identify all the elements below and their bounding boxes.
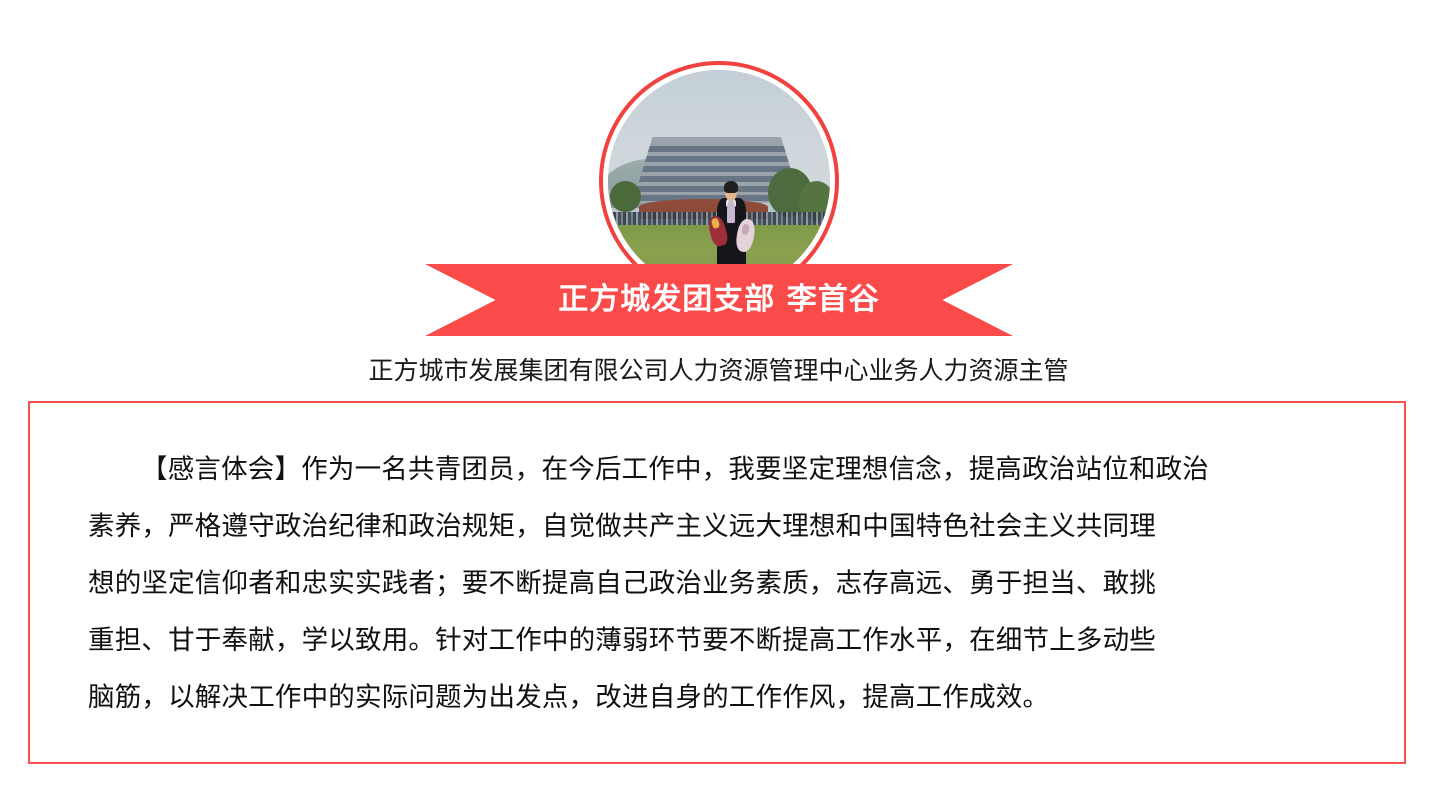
portrait-clip xyxy=(608,70,830,292)
testimony-line: 重担、甘于奉献，学以致用。针对工作中的薄弱环节要不断提高工作水平，在细节上多动些 xyxy=(88,612,1362,669)
page-root: 正方城发团支部 李首谷 正方城市发展集团有限公司人力资源管理中心业务人力资源主管… xyxy=(0,0,1437,785)
job-title-subtitle: 正方城市发展集团有限公司人力资源管理中心业务人力资源主管 xyxy=(0,356,1437,386)
testimony-line: 【感言体会】作为一名共青团员，在今后工作中，我要坚定理想信念，提高政治站位和政治 xyxy=(88,441,1362,498)
photo-hair xyxy=(724,181,738,193)
testimony-box: 【感言体会】作为一名共青团员，在今后工作中，我要坚定理想信念，提高政治站位和政治… xyxy=(28,401,1406,764)
ribbon-title-text: 正方城发团支部 李首谷 xyxy=(558,285,879,315)
testimony-line: 想的坚定信仰者和忠实实践者；要不断提高自己政治业务素质，志存高远、勇于担当、敢挑 xyxy=(88,555,1362,612)
photo-stole xyxy=(727,200,735,224)
name-ribbon-banner: 正方城发团支部 李首谷 xyxy=(425,264,1013,336)
testimony-line: 素养，严格遵守政治纪律和政治规矩，自觉做共产主义远大理想和中国特色社会主义共同理 xyxy=(88,498,1362,555)
graduation-photo-image xyxy=(608,70,830,292)
testimony-line: 脑筋，以解决工作中的实际问题为出发点，改进自身的工作作风，提高工作成效。 xyxy=(88,669,1362,726)
testimony-text-block: 【感言体会】作为一名共青团员，在今后工作中，我要坚定理想信念，提高政治站位和政治… xyxy=(88,441,1362,726)
